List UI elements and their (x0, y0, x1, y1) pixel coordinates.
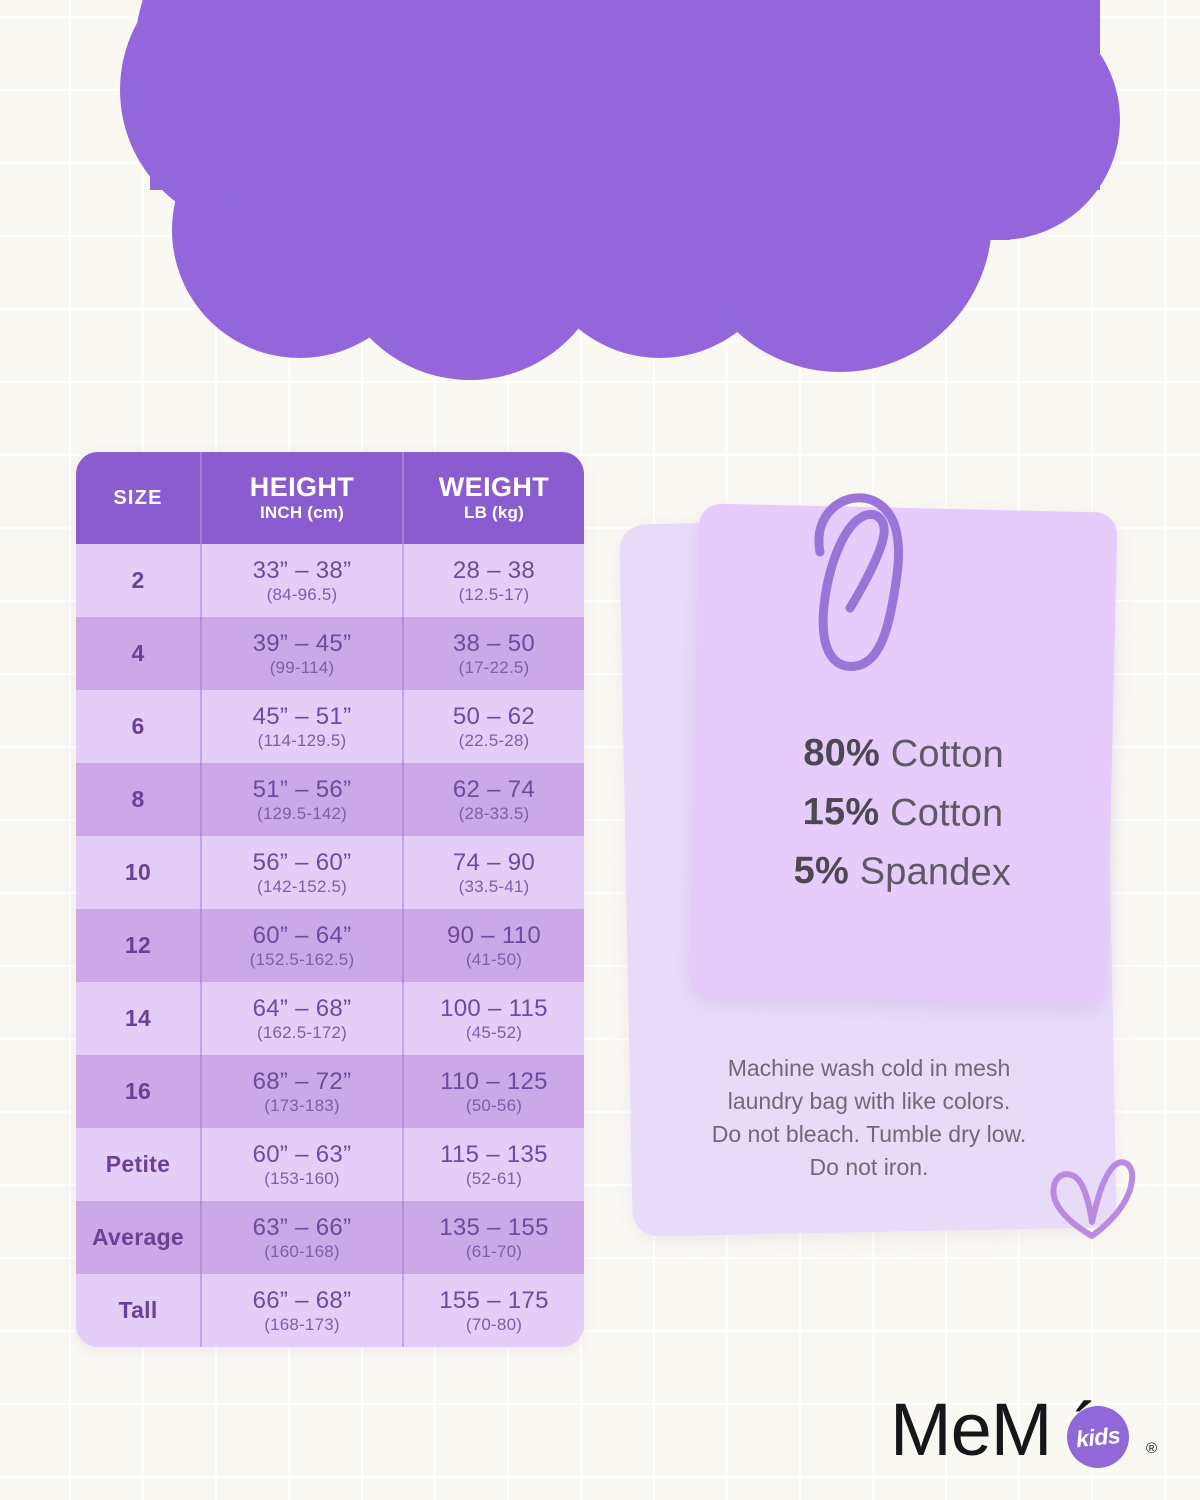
page-title: Find your suitable size (0, 0, 1200, 12)
cell-size-value: 8 (131, 786, 144, 813)
fabric-line: 15% Cotton (694, 782, 1113, 845)
table-body: 233” – 38”(84-96.5)28 – 38(12.5-17)439” … (76, 544, 584, 1347)
fabric-line: 80% Cotton (694, 723, 1113, 786)
cell-weight-primary: 74 – 90 (453, 849, 535, 876)
cell-height: 68” – 72”(173-183) (200, 1055, 402, 1128)
cell-weight-metric: (17-22.5) (459, 657, 530, 678)
column-header-height-label: HEIGHT (250, 472, 354, 502)
table-row: 1464” – 68”(162.5-172)100 – 115(45-52) (76, 982, 584, 1055)
column-header-height: HEIGHT INCH (cm) (200, 452, 402, 544)
cell-size-value: Average (92, 1224, 184, 1251)
brand-kids-badge: kids (1067, 1406, 1129, 1468)
cell-height: 63” – 66”(160-168) (200, 1201, 402, 1274)
fabric-material: Spandex (859, 851, 1011, 895)
cloud-shape (0, 0, 1200, 390)
cell-height-primary: 68” – 72” (253, 1068, 352, 1095)
cell-weight: 155 – 175(70-80) (402, 1274, 584, 1347)
size-chart-table: SIZE HEIGHT INCH (cm) WEIGHT LB (kg) 233… (76, 452, 584, 1347)
table-row: 645” – 51”(114-129.5)50 – 62(22.5-28) (76, 690, 584, 763)
fabric-material: Cotton (890, 792, 1004, 835)
cell-weight-metric: (61-70) (466, 1241, 522, 1262)
column-header-weight-unit: LB (kg) (464, 502, 524, 524)
cell-height-primary: 64” – 68” (253, 995, 352, 1022)
cell-size: 14 (76, 982, 200, 1055)
cell-size-value: 10 (125, 859, 151, 886)
cell-height-metric: (99-114) (270, 657, 335, 678)
cell-size: 2 (76, 544, 200, 617)
fabric-composition-list: 80% Cotton15% Cotton5% Spandex (693, 723, 1113, 904)
cell-size: 10 (76, 836, 200, 909)
cell-height-primary: 45” – 51” (253, 703, 352, 730)
cloud-header-banner: Find your suitable size (0, 0, 1200, 390)
cell-height: 60” – 63”(153-160) (200, 1128, 402, 1201)
paperclip-icon (800, 486, 930, 686)
cell-height-primary: 60” – 63” (253, 1141, 352, 1168)
cell-height: 51” – 56”(129.5-142) (200, 763, 402, 836)
cell-height: 66” – 68”(168-173) (200, 1274, 402, 1347)
cell-weight-primary: 50 – 62 (453, 703, 535, 730)
cell-size-value: 16 (125, 1078, 151, 1105)
cell-height-primary: 33” – 38” (253, 557, 352, 584)
table-row: 1668” – 72”(173-183)110 – 125(50-56) (76, 1055, 584, 1128)
cell-size: Average (76, 1201, 200, 1274)
fabric-percent: 5% (793, 850, 849, 893)
cell-weight: 110 – 125(50-56) (402, 1055, 584, 1128)
cell-size-value: 12 (125, 932, 151, 959)
cell-size-value: 6 (131, 713, 144, 740)
cell-weight-metric: (12.5-17) (459, 584, 530, 605)
cell-weight-primary: 155 – 175 (439, 1287, 548, 1314)
column-header-size-label: SIZE (113, 487, 162, 510)
table-row: 439” – 45”(99-114)38 – 50(17-22.5) (76, 617, 584, 690)
cell-height-primary: 56” – 60” (253, 849, 352, 876)
cell-weight: 62 – 74(28-33.5) (402, 763, 584, 836)
cell-weight: 50 – 62(22.5-28) (402, 690, 584, 763)
cell-height-metric: (153-160) (264, 1168, 340, 1189)
table-row: 1260” – 64”(152.5-162.5)90 – 110(41-50) (76, 909, 584, 982)
cell-weight: 74 – 90(33.5-41) (402, 836, 584, 909)
cell-weight: 38 – 50(17-22.5) (402, 617, 584, 690)
fabric-material: Cotton (891, 733, 1005, 776)
cell-size: Petite (76, 1128, 200, 1201)
fabric-percent: 80% (803, 732, 880, 775)
column-header-size: SIZE (76, 452, 200, 544)
cell-height: 56” – 60”(142-152.5) (200, 836, 402, 909)
registered-trademark-mark: ® (1146, 1440, 1157, 1457)
cell-weight-metric: (70-80) (466, 1314, 522, 1335)
cell-weight-primary: 110 – 125 (440, 1068, 548, 1095)
cell-height-metric: (160-168) (264, 1241, 340, 1262)
brand-logo: MeM í kids ® (890, 1382, 1170, 1478)
cell-height-metric: (142-152.5) (257, 876, 347, 897)
table-row: Average63” – 66”(160-168)135 – 155(61-70… (76, 1201, 584, 1274)
brand-kids-label: kids (1075, 1421, 1122, 1452)
cell-height: 64” – 68”(162.5-172) (200, 982, 402, 1055)
cell-height-metric: (162.5-172) (257, 1022, 347, 1043)
fabric-line: 5% Spandex (693, 841, 1112, 904)
cell-weight-metric: (28-33.5) (459, 803, 530, 824)
cell-height: 39” – 45”(99-114) (200, 617, 402, 690)
cell-height-metric: (129.5-142) (257, 803, 347, 824)
cell-size: 6 (76, 690, 200, 763)
cell-height-metric: (114-129.5) (258, 730, 347, 751)
cell-weight-metric: (50-56) (466, 1095, 522, 1116)
table-row: Tall66” – 68”(168-173)155 – 175(70-80) (76, 1274, 584, 1347)
cell-size-value: 4 (131, 640, 144, 667)
cell-weight: 115 – 135(52-61) (402, 1128, 584, 1201)
fabric-percent: 15% (802, 791, 879, 834)
cell-height-metric: (84-96.5) (267, 584, 338, 605)
cell-height-metric: (173-183) (264, 1095, 340, 1116)
cell-height-metric: (152.5-162.5) (250, 949, 355, 970)
cell-height-metric: (168-173) (264, 1314, 340, 1335)
heart-doodle-icon (1046, 1152, 1138, 1244)
table-header-row: SIZE HEIGHT INCH (cm) WEIGHT LB (kg) (76, 452, 584, 544)
column-header-weight: WEIGHT LB (kg) (402, 452, 584, 544)
cell-size: 8 (76, 763, 200, 836)
cell-size: Tall (76, 1274, 200, 1347)
brand-wordmark: MeM í (890, 1382, 1091, 1478)
cell-size: 4 (76, 617, 200, 690)
cell-size: 16 (76, 1055, 200, 1128)
cell-height-primary: 39” – 45” (253, 630, 352, 657)
cell-height-primary: 60” – 64” (253, 922, 352, 949)
care-instructions: Machine wash cold in mesh laundry bag wi… (654, 1052, 1084, 1184)
cell-height-primary: 51” – 56” (253, 776, 352, 803)
cell-height: 60” – 64”(152.5-162.5) (200, 909, 402, 982)
cell-height: 33” – 38”(84-96.5) (200, 544, 402, 617)
cell-height-primary: 66” – 68” (253, 1287, 352, 1314)
cell-weight-metric: (33.5-41) (459, 876, 530, 897)
column-header-weight-label: WEIGHT (439, 472, 549, 502)
cell-weight-primary: 28 – 38 (453, 557, 535, 584)
column-header-height-unit: INCH (cm) (260, 502, 344, 524)
size-chart-infographic: Find your suitable size SIZE HEIGHT INCH… (0, 0, 1200, 1500)
cell-weight: 28 – 38(12.5-17) (402, 544, 584, 617)
cell-height: 45” – 51”(114-129.5) (200, 690, 402, 763)
cell-weight: 100 – 115(45-52) (402, 982, 584, 1055)
cell-weight: 90 – 110(41-50) (402, 909, 584, 982)
cell-weight-primary: 38 – 50 (453, 630, 535, 657)
cell-weight-metric: (52-61) (466, 1168, 522, 1189)
cell-size-value: Petite (106, 1151, 170, 1178)
cell-size-value: 2 (131, 567, 144, 594)
cell-size-value: 14 (125, 1005, 151, 1032)
cell-weight: 135 – 155(61-70) (402, 1201, 584, 1274)
cell-height-primary: 63” – 66” (253, 1214, 352, 1241)
cell-weight-metric: (41-50) (466, 949, 522, 970)
cell-weight-primary: 90 – 110 (447, 922, 541, 949)
cell-weight-primary: 115 – 135 (440, 1141, 548, 1168)
table-row: 1056” – 60”(142-152.5)74 – 90(33.5-41) (76, 836, 584, 909)
table-row: 233” – 38”(84-96.5)28 – 38(12.5-17) (76, 544, 584, 617)
cell-size-value: Tall (118, 1297, 157, 1324)
cell-weight-primary: 135 – 155 (439, 1214, 548, 1241)
table-row: 851” – 56”(129.5-142)62 – 74(28-33.5) (76, 763, 584, 836)
cell-weight-primary: 100 – 115 (440, 995, 548, 1022)
cell-size: 12 (76, 909, 200, 982)
cell-weight-metric: (22.5-28) (459, 730, 530, 751)
table-row: Petite60” – 63”(153-160)115 – 135(52-61) (76, 1128, 584, 1201)
cell-weight-primary: 62 – 74 (453, 776, 535, 803)
cell-weight-metric: (45-52) (466, 1022, 522, 1043)
